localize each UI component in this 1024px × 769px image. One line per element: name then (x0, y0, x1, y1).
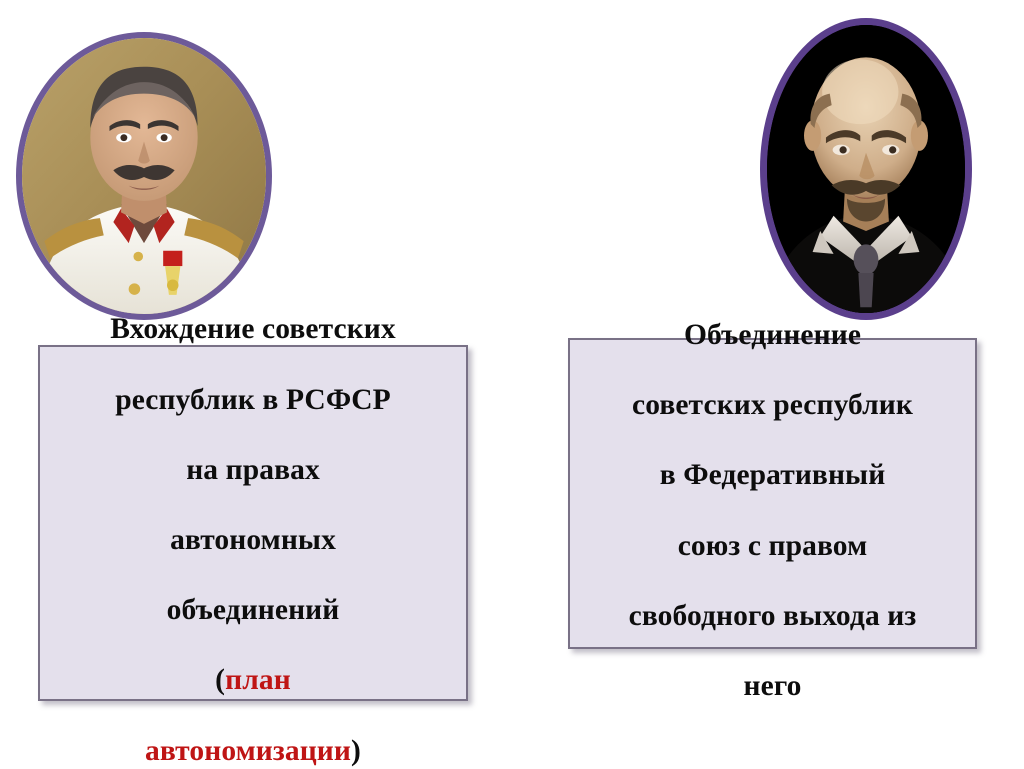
callout-left-text: Вхождение советских республик в РСФСР на… (104, 277, 402, 768)
callout-right-line-4: союз с правом (678, 530, 868, 562)
callout-box-lenin-plan: Объединение советских республик в Федера… (568, 338, 977, 649)
lenin-portrait-image (767, 25, 965, 313)
callout-right-line-2: советских республик (632, 389, 913, 421)
callout-left-line-5: объединений (167, 594, 340, 626)
callout-left-paren-open: ( (215, 664, 225, 696)
callout-left-line-3: на правах (186, 454, 320, 486)
callout-left-line-1: Вхождение советских (110, 313, 396, 345)
stalin-portrait-image (22, 38, 266, 314)
callout-left-line-2: республик в РСФСР (115, 384, 391, 416)
callout-right-line-3: в Федеративный (660, 459, 886, 491)
callout-left-accent-line-1: план (225, 664, 291, 696)
callout-left-line-4: автономных (170, 524, 336, 556)
callout-right-line-1: Объединение (684, 319, 861, 351)
lenin-portrait (760, 18, 972, 320)
callout-left-accent-line-2: автономизации (145, 735, 351, 767)
callout-right-line-6: него (744, 670, 802, 702)
callout-left-paren-close: ) (351, 735, 361, 767)
callout-right-line-5: свободного выхода из (629, 600, 917, 632)
callout-right-text: Объединение советских республик в Федера… (623, 283, 923, 704)
callout-box-stalin-plan: Вхождение советских республик в РСФСР на… (38, 345, 468, 701)
